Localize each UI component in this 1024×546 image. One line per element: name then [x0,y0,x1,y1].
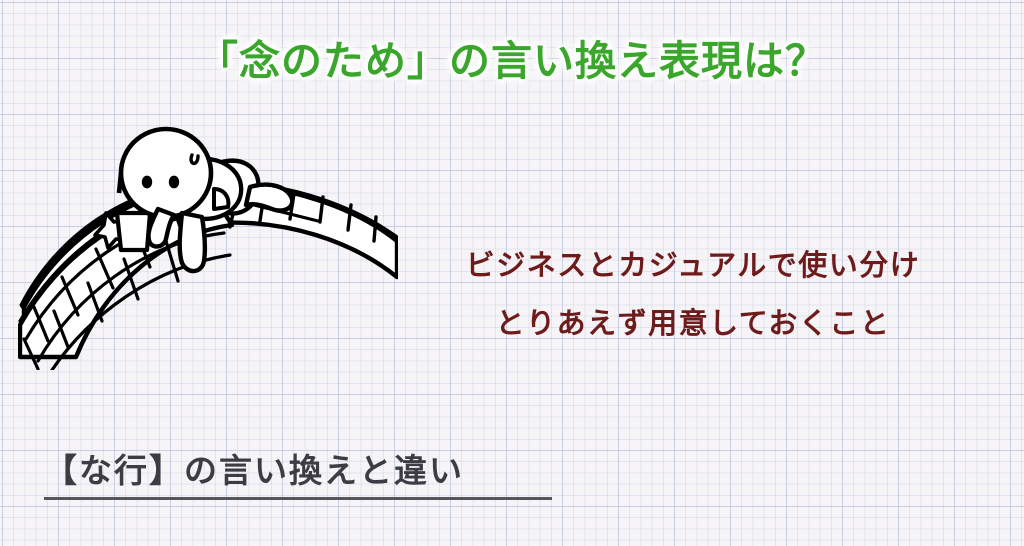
person-tapping-stone-bridge-illustration [18,125,398,370]
footer-heading: 【な行】の言い換えと違い [44,448,554,494]
footer-underline [44,497,552,500]
slide-canvas: 「念のため」の言い換え表現は？ [0,0,1024,546]
body-copy: ビジネスとカジュアルで使い分け とりあえず用意しておくこと [423,236,963,352]
body-copy-line-1: ビジネスとカジュアルで使い分け [423,236,963,294]
body-copy-line-2: とりあえず用意しておくこと [423,294,963,352]
page-title: 「念のため」の言い換え表現は？ [0,34,1024,88]
